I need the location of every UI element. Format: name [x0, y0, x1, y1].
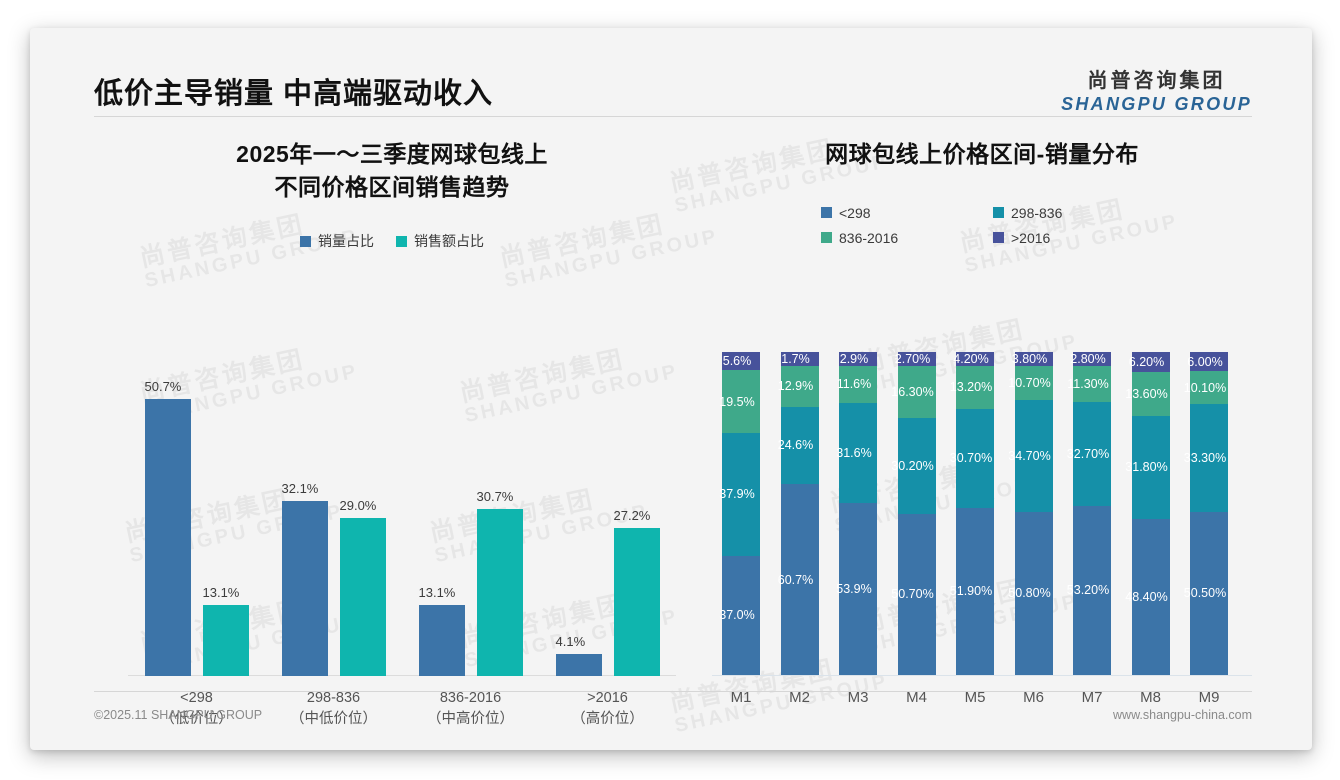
slide-header: 低价主导销量 中高端驱动收入 尚普咨询集团 SHANGPU GROUP [30, 28, 1312, 114]
bar-volume-share[interactable]: 32.1% [282, 501, 328, 676]
footer-divider [94, 691, 1252, 692]
header-divider [94, 116, 1252, 117]
stack-segment-value-label: 13.20% [950, 380, 992, 394]
right-chart-panel: 网球包线上价格区间-销量分布 <298298-836836-2016>2016 … [702, 138, 1262, 708]
stack-segment-298-836[interactable]: 33.30% [1190, 404, 1228, 512]
bar-column: 13.1% [419, 605, 465, 676]
bar-value-label: 13.1% [203, 585, 240, 600]
stack-segment-value-label: 32.70% [1067, 447, 1109, 461]
stack-segment-gt-2016[interactable]: 2.70% [898, 352, 936, 366]
left-chart-title-line2: 不同价格区间销售趋势 [92, 171, 692, 204]
bar-column: 30.7% [477, 509, 523, 676]
stack-segment-value-label: 16.30% [891, 385, 933, 399]
stack-segment-836-2016[interactable]: 16.30% [898, 366, 936, 418]
stacked-bar-column: 3.80%10.70%34.70%50.80%M6 [1015, 352, 1053, 675]
x-axis-category-label: 836-2016（中高价位） [396, 688, 546, 730]
stack-segment-value-label: 60.7% [778, 573, 813, 587]
bar-value-label: 29.0% [340, 498, 377, 513]
logo-chinese-text: 尚普咨询集团 [1061, 64, 1252, 93]
x-axis-category-label: 298-836（中低价位） [259, 688, 409, 730]
stack-segment-gt-2016[interactable]: 6.20% [1132, 352, 1170, 372]
legend-item-lt-298[interactable]: <298 [821, 205, 971, 221]
bar-value-label: 27.2% [614, 508, 651, 523]
legend-item-revenue-share[interactable]: 销售额占比 [396, 231, 484, 251]
stacked-bar-column: 4.20%13.20%30.70%51.90%M5 [956, 352, 994, 675]
bar-volume-share[interactable]: 50.7% [145, 399, 191, 676]
stack-segment-value-label: 24.6% [778, 438, 813, 452]
legend-item-298-836[interactable]: 298-836 [993, 205, 1143, 221]
stack-segment-lt-298[interactable]: 53.9% [839, 503, 877, 675]
logo-english-text: SHANGPU GROUP [1061, 94, 1252, 115]
bar-column: 29.0% [340, 518, 386, 676]
slide-card: 尚普咨询集团SHANGPU GROUP尚普咨询集团SHANGPU GROUP尚普… [30, 28, 1312, 750]
bar-value-label: 13.1% [419, 585, 456, 600]
stack-segment-value-label: 50.70% [891, 587, 933, 601]
legend-swatch-icon [300, 236, 311, 247]
footer-copyright: ©2025.11 SHANGPU GROUP [94, 708, 262, 722]
stack-segment-value-label: 19.5% [719, 395, 754, 409]
stack-segment-value-label: 51.90% [950, 584, 992, 598]
stack-segment-value-label: 11.30% [1067, 377, 1108, 391]
stack-segment-298-836[interactable]: 30.70% [956, 409, 994, 508]
stack-segment-298-836[interactable]: 30.20% [898, 418, 936, 514]
stack-segment-lt-298[interactable]: 60.7% [781, 484, 819, 675]
legend-swatch-icon [993, 207, 1004, 218]
bar-revenue-share[interactable]: 29.0% [340, 518, 386, 676]
bar-value-label: 4.1% [556, 634, 586, 649]
bar-column: 27.2% [614, 528, 660, 676]
stack-segment-836-2016[interactable]: 10.70% [1015, 366, 1053, 400]
legend-swatch-icon [993, 232, 1004, 243]
stack-segment-value-label: 37.0% [719, 608, 754, 622]
stack-segment-gt-2016[interactable]: 6.00% [1190, 352, 1228, 371]
stack-segment-836-2016[interactable]: 13.60% [1132, 372, 1170, 416]
bar-group: 4.1%27.2%>2016（高价位） [539, 528, 676, 676]
stack-segment-value-label: 37.9% [719, 487, 754, 501]
stack-segment-lt-298[interactable]: 50.50% [1190, 512, 1228, 675]
bar-group: 13.1%30.7%836-2016（中高价位） [402, 509, 539, 676]
left-chart-title: 2025年一～三季度网球包线上 不同价格区间销售趋势 [92, 138, 692, 203]
page-title: 低价主导销量 中高端驱动收入 [94, 70, 493, 112]
left-chart-legend: 销量占比销售额占比 [92, 231, 692, 251]
right-chart-legend: <298298-836836-2016>2016 [702, 205, 1262, 246]
bar-group: 50.7%13.1%<298（低价位） [128, 399, 265, 676]
legend-item-gt-2016[interactable]: >2016 [993, 230, 1143, 246]
bar-column: 32.1% [282, 501, 328, 676]
stack-segment-value-label: 3.80% [1012, 352, 1047, 366]
stacked-bar-column: 6.20%13.60%31.80%48.40%M8 [1132, 352, 1170, 675]
stack-segment-value-label: 12.9% [778, 379, 813, 393]
stack-segment-value-label: 33.30% [1184, 451, 1226, 465]
stack-segment-value-label: 50.80% [1008, 586, 1050, 600]
stack-segment-298-836[interactable]: 31.6% [839, 403, 877, 504]
stack-segment-lt-298[interactable]: 53.20% [1073, 506, 1111, 675]
stack-segment-value-label: 31.80% [1125, 460, 1167, 474]
right-chart-axis-line [712, 675, 1252, 676]
legend-label: 销量占比 [318, 231, 374, 251]
stack-segment-value-label: 2.80% [1070, 352, 1105, 366]
stacked-bar-column: 2.9%11.6%31.6%53.9%M3 [839, 352, 877, 675]
x-axis-category-label: >2016（高价位） [533, 688, 683, 730]
legend-swatch-icon [821, 232, 832, 243]
category-sublabel: （中高价位） [396, 709, 546, 730]
legend-label: <298 [839, 205, 871, 221]
stacked-bar-column: 5.6%19.5%37.9%37.0%M1 [722, 352, 760, 675]
stack-segment-836-2016[interactable]: 12.9% [781, 366, 819, 407]
stack-segment-value-label: 11.6% [837, 377, 872, 391]
legend-swatch-icon [821, 207, 832, 218]
stack-segment-836-2016[interactable]: 19.5% [722, 370, 760, 433]
brand-logo: 尚普咨询集团 SHANGPU GROUP [1061, 64, 1252, 115]
stack-segment-lt-298[interactable]: 37.0% [722, 556, 760, 676]
stack-segment-298-836[interactable]: 34.70% [1015, 400, 1053, 511]
stack-segment-value-label: 1.7% [781, 352, 810, 366]
left-chart-panel: 2025年一～三季度网球包线上 不同价格区间销售趋势 销量占比销售额占比 50.… [92, 138, 692, 708]
stack-segment-gt-2016[interactable]: 2.9% [839, 352, 877, 366]
bar-value-label: 32.1% [282, 481, 319, 496]
stack-segment-lt-298[interactable]: 48.40% [1132, 519, 1170, 675]
stack-segment-298-836[interactable]: 24.6% [781, 407, 819, 484]
stack-segment-value-label: 5.6% [723, 354, 752, 368]
stack-segment-836-2016[interactable]: 11.30% [1073, 366, 1111, 402]
bar-column: 50.7% [145, 399, 191, 676]
legend-item-volume-share[interactable]: 销量占比 [300, 231, 374, 251]
legend-label: 836-2016 [839, 230, 898, 246]
stack-segment-value-label: 30.20% [891, 459, 933, 473]
bar-group: 32.1%29.0%298-836（中低价位） [265, 501, 402, 676]
stack-segment-value-label: 53.20% [1067, 583, 1109, 597]
bar-revenue-share[interactable]: 30.7% [477, 509, 523, 676]
right-chart-title: 网球包线上价格区间-销量分布 [702, 138, 1262, 171]
stack-segment-value-label: 31.6% [836, 446, 871, 460]
legend-label: 销售额占比 [414, 231, 484, 251]
stack-segment-lt-298[interactable]: 51.90% [956, 508, 994, 675]
stack-segment-gt-2016[interactable]: 2.80% [1073, 352, 1111, 366]
bar-revenue-share[interactable]: 13.1% [203, 605, 249, 676]
stack-segment-value-label: 13.60% [1125, 387, 1167, 401]
stack-segment-298-836[interactable]: 37.9% [722, 433, 760, 555]
legend-item-836-2016[interactable]: 836-2016 [821, 230, 971, 246]
stack-segment-value-label: 34.70% [1008, 449, 1050, 463]
stack-segment-value-label: 50.50% [1184, 586, 1226, 600]
left-chart-title-line1: 2025年一～三季度网球包线上 [92, 138, 692, 171]
stack-segment-value-label: 2.70% [895, 352, 930, 366]
category-sublabel: （高价位） [533, 709, 683, 730]
stack-segment-836-2016[interactable]: 10.10% [1190, 371, 1228, 404]
stack-segment-298-836[interactable]: 32.70% [1073, 402, 1111, 506]
stack-segment-298-836[interactable]: 31.80% [1132, 416, 1170, 519]
stack-segment-value-label: 6.20% [1129, 355, 1164, 369]
category-sublabel: （中低价位） [259, 709, 409, 730]
stack-segment-gt-2016[interactable]: 5.6% [722, 352, 760, 370]
legend-swatch-icon [396, 236, 407, 247]
bar-value-label: 30.7% [477, 489, 514, 504]
stack-segment-value-label: 10.10% [1184, 381, 1226, 395]
stack-segment-836-2016[interactable]: 13.20% [956, 366, 994, 409]
stack-segment-gt-2016[interactable]: 3.80% [1015, 352, 1053, 366]
stack-segment-value-label: 2.9% [840, 352, 869, 366]
stacked-bar-column: 1.7%12.9%24.6%60.7%M2 [781, 352, 819, 675]
stack-segment-value-label: 10.70% [1008, 376, 1050, 390]
stack-segment-gt-2016[interactable]: 4.20% [956, 352, 994, 366]
bar-column: 13.1% [203, 605, 249, 676]
bar-column: 4.1% [556, 654, 602, 676]
stacked-bar-column: 2.80%11.30%32.70%53.20%M7 [1073, 352, 1111, 675]
footer-website[interactable]: www.shangpu-china.com [1113, 708, 1252, 722]
bar-revenue-share[interactable]: 27.2% [614, 528, 660, 676]
stacked-bar-column: 6.00%10.10%33.30%50.50%M9 [1190, 352, 1228, 675]
bar-value-label: 50.7% [145, 379, 182, 394]
stack-segment-value-label: 48.40% [1125, 590, 1167, 604]
stacked-bar-chart-plot: 5.6%19.5%37.9%37.0%M11.7%12.9%24.6%60.7%… [706, 304, 1258, 724]
stack-segment-gt-2016[interactable]: 1.7% [781, 352, 819, 366]
stack-segment-lt-298[interactable]: 50.80% [1015, 512, 1053, 675]
stack-segment-836-2016[interactable]: 11.6% [839, 366, 877, 403]
stacked-bar-column: 2.70%16.30%30.20%50.70%M4 [898, 352, 936, 675]
stack-segment-lt-298[interactable]: 50.70% [898, 514, 936, 675]
stack-segment-value-label: 4.20% [953, 352, 988, 366]
legend-label: >2016 [1011, 230, 1050, 246]
bar-volume-share[interactable]: 13.1% [419, 605, 465, 676]
stack-segment-value-label: 53.9% [836, 582, 871, 596]
stack-segment-value-label: 6.00% [1187, 355, 1222, 369]
stack-segment-value-label: 30.70% [950, 451, 992, 465]
grouped-bar-chart-plot: 50.7%13.1%<298（低价位）32.1%29.0%298-836（中低价… [100, 324, 684, 724]
legend-label: 298-836 [1011, 205, 1062, 221]
bar-volume-share[interactable]: 4.1% [556, 654, 602, 676]
